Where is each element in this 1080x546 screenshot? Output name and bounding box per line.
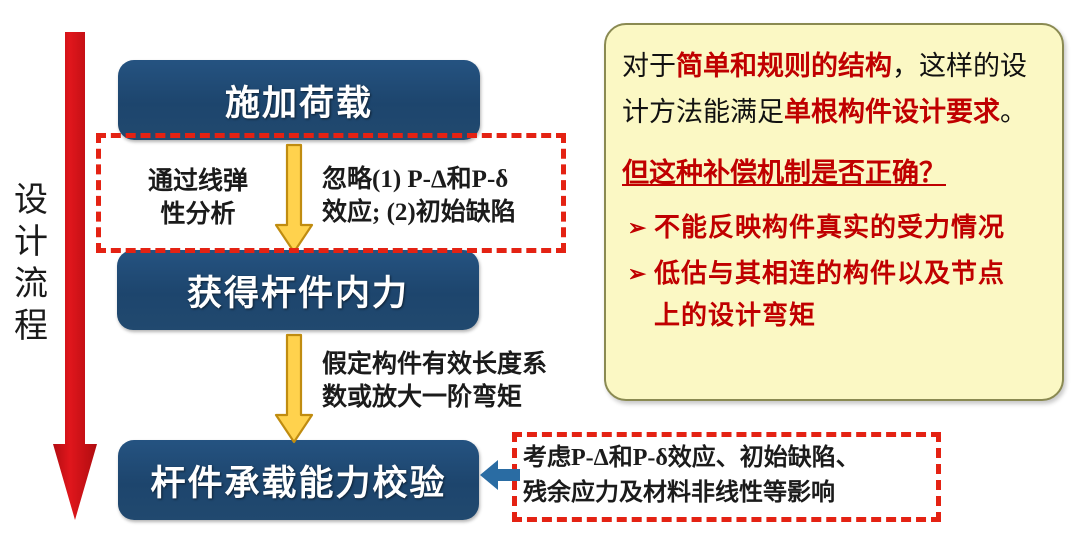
note-paragraph: 对于简单和规则的结构，这样的设计方法能满足单根构件设计要求。 bbox=[622, 43, 1048, 135]
list-item: ➢ 不能反映构件真实的受力情况 bbox=[620, 207, 1048, 249]
annotation-effective-length: 假定构件有效长度系 数或放大一阶弯矩 bbox=[322, 348, 592, 414]
list-item: ➢ 低估与其相连的构件以及节点 上的设计弯矩 bbox=[620, 253, 1048, 337]
bullet-arrow-icon: ➢ bbox=[620, 207, 654, 249]
note-question: 但这种补偿机制是否正确？ bbox=[622, 153, 946, 193]
down-arrow-icon-2 bbox=[274, 333, 314, 445]
note-seg-0: 对于 bbox=[622, 51, 676, 81]
note-card: 对于简单和规则的结构，这样的设计方法能满足单根构件设计要求。 但这种补偿机制是否… bbox=[604, 23, 1064, 401]
annotation-ignore-effects: 忽略(1) P-Δ和P-δ 效应; (2)初始缺陷 bbox=[322, 163, 572, 229]
note-seg-1: 简单和规则的结构 bbox=[676, 51, 892, 81]
process-box-apply-load[interactable]: 施加荷载 bbox=[118, 60, 480, 140]
note-seg-4: 。 bbox=[1000, 97, 1027, 127]
process-box-member-internal-force[interactable]: 获得杆件内力 bbox=[117, 250, 479, 330]
bullet-arrow-icon: ➢ bbox=[620, 253, 654, 295]
bullet-text: 不能反映构件真实的受力情况 bbox=[654, 207, 1005, 249]
bullet-text: 低估与其相连的构件以及节点 上的设计弯矩 bbox=[654, 253, 1005, 337]
annotation-linear-elastic: 通过线弹 性分析 bbox=[128, 165, 268, 231]
annotation-consider-effects: 考虑P-Δ和P-δ效应、初始缺陷、 残余应力及材料非线性等影响 bbox=[523, 441, 937, 511]
left-arrow-icon bbox=[478, 455, 522, 495]
process-box-member-capacity-check[interactable]: 杆件承载能力校验 bbox=[118, 440, 479, 520]
note-bullet-list: ➢ 不能反映构件真实的受力情况 ➢ 低估与其相连的构件以及节点 上的设计弯矩 bbox=[620, 207, 1048, 337]
design-flow-label: 设 计 流 程 bbox=[8, 180, 54, 348]
design-flow-arrow-icon bbox=[52, 32, 98, 520]
slide-canvas: 设 计 流 程 施加荷载 获得杆件内力 杆件承载能力校验 通过线弹 性分析 忽略… bbox=[0, 0, 1080, 546]
note-seg-3: 单根构件设计要求 bbox=[784, 97, 1000, 127]
